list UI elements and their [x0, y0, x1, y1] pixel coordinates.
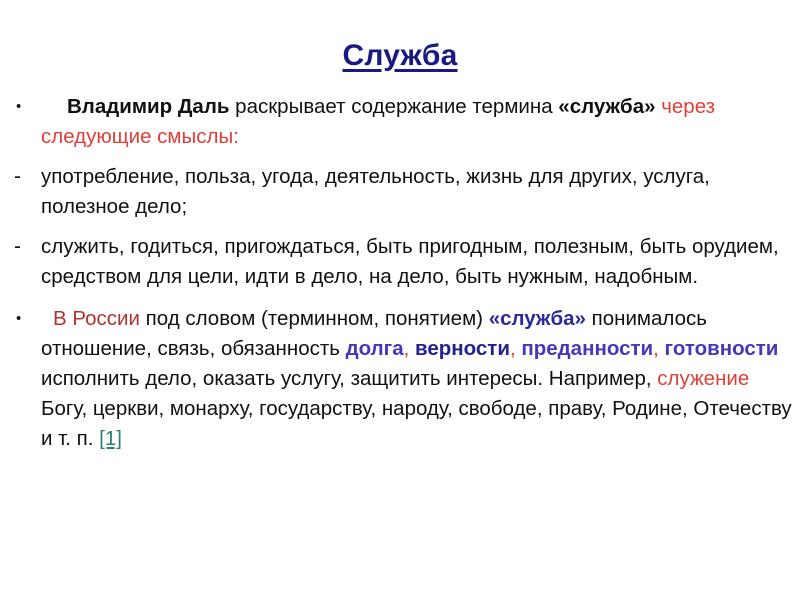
run-gotovnosti: готовности: [665, 337, 779, 360]
run-dash2-line1: служить, годиться, пригождаться, быть пр…: [41, 235, 528, 258]
dash-marker-icon: -: [14, 162, 38, 192]
bullet-dot-icon: •: [16, 304, 40, 334]
run-v-rossii: В России: [53, 307, 140, 330]
run-dal-term: «служба»: [558, 95, 655, 118]
run-dash1-line1: употребление, польза, угода, деятельност…: [41, 165, 564, 188]
run-predannosti: преданности: [521, 337, 653, 360]
run-after-gotovnosti: исполнить дело, оказать услугу, защитить…: [41, 367, 657, 390]
run-sluzhba-blue: «служба»: [489, 307, 586, 330]
run-dal-mid: раскрывает содержание термина: [229, 95, 558, 118]
run-comma-3: ,: [653, 337, 659, 360]
slide-title-container: Служба: [0, 18, 800, 94]
run-vernosti: верности: [415, 337, 510, 360]
run-comma-2: ,: [510, 337, 516, 360]
run-dash2-line3: на дело, быть нужным, надобным.: [369, 265, 698, 288]
dash-item-meanings-2: - служить, годиться, пригождаться, быть …: [8, 232, 792, 292]
bullet-dot-icon: •: [16, 92, 40, 122]
bullet-item-dal: • Владимир Даль раскрывает содержание те…: [8, 92, 792, 152]
dash-item-meanings-1: - употребление, польза, угода, деятельно…: [8, 162, 792, 222]
run-after-russia: под словом (терминном, понятием): [140, 307, 489, 330]
run-dolga: долга: [346, 337, 404, 360]
reference-link-1[interactable]: [1]: [99, 427, 122, 450]
run-sluzhenie: служение: [657, 367, 749, 390]
page-title: Служба: [342, 38, 457, 74]
run-dal-name: Владимир Даль: [67, 95, 229, 118]
dash-marker-icon: -: [14, 232, 38, 262]
slide-canvas: Служба • Владимир Даль раскрывает содерж…: [0, 0, 800, 600]
slide-body: • Владимир Даль раскрывает содержание те…: [8, 92, 792, 456]
run-comma-1: ,: [404, 337, 410, 360]
bullet-item-russia: • В России под словом (терминном, поняти…: [8, 304, 792, 454]
run-tail: Богу, церкви, монарху, государству, наро…: [41, 397, 792, 450]
